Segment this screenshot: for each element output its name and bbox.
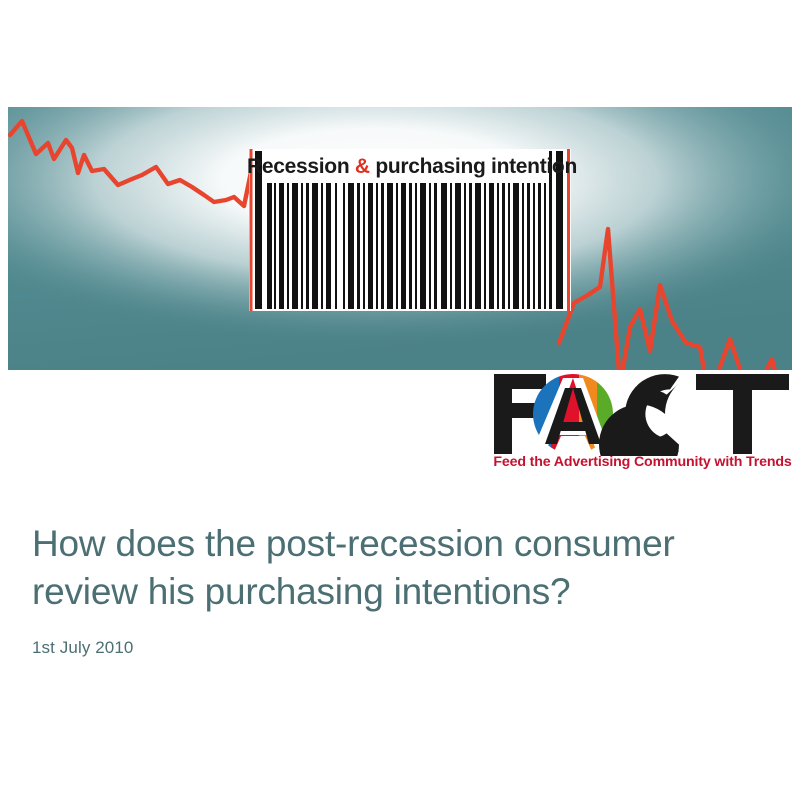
barcode-label-part-2: purchasing intention <box>370 155 577 178</box>
logo-letter-t <box>696 374 789 454</box>
hero-banner: Recession & purchasing intention <box>8 107 792 370</box>
slide-date: 1st July 2010 <box>32 638 762 658</box>
hero-banner-artwork: Recession & purchasing intention <box>8 107 792 370</box>
title-block: How does the post-recession consumer rev… <box>32 520 762 658</box>
fact-logo: Feed the Advertising Community with Tren… <box>489 370 794 480</box>
barcode-label-ampersand: & <box>355 155 370 178</box>
page-title: How does the post-recession consumer rev… <box>32 520 762 616</box>
barcode-label: Recession & purchasing intention <box>247 155 577 178</box>
logo-tagline: Feed the Advertising Community with Tren… <box>491 454 794 470</box>
fact-wordmark <box>489 370 794 456</box>
barcode-label-part-1: Recession <box>247 155 355 178</box>
barcode: Recession & purchasing intention <box>247 149 577 311</box>
title-slide: Recession & purchasing intention <box>0 0 800 800</box>
